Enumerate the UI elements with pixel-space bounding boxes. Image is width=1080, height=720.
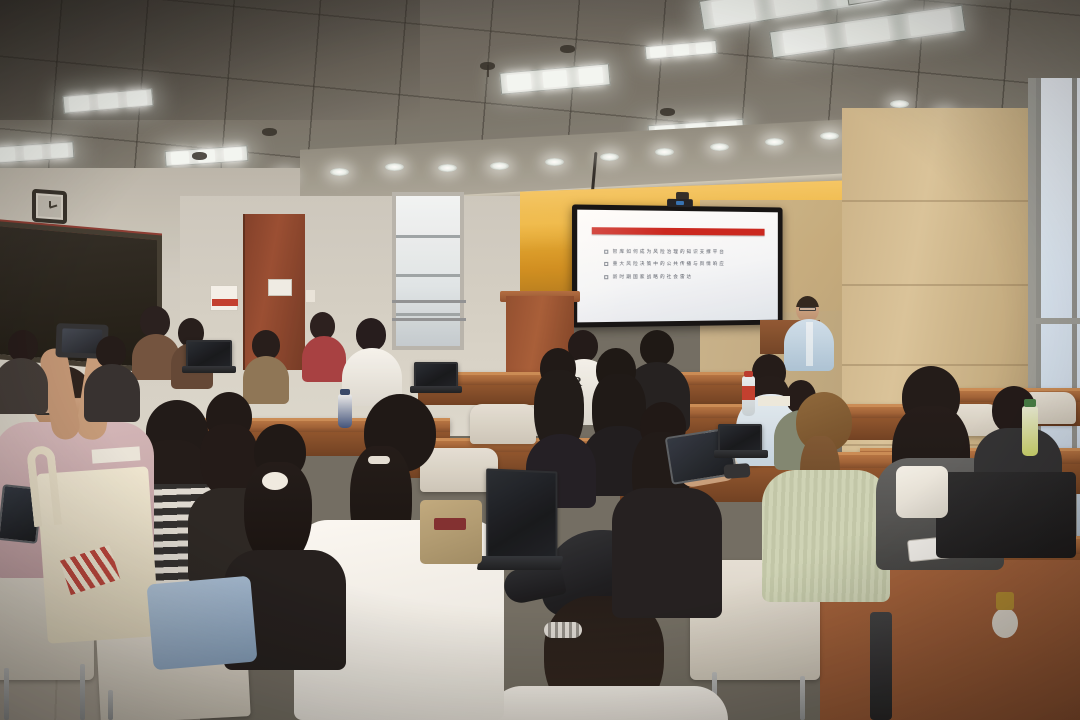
recessed-downlight bbox=[655, 148, 674, 156]
recessed-downlight bbox=[710, 143, 729, 151]
ceiling-speaker bbox=[192, 152, 207, 160]
paper-sheet bbox=[758, 396, 790, 406]
bottle-cap bbox=[340, 389, 350, 395]
window-mid bbox=[396, 196, 460, 346]
hair-scrunchie bbox=[262, 472, 288, 490]
laptop-keyboard[interactable] bbox=[182, 366, 236, 373]
chair[interactable] bbox=[470, 404, 536, 444]
recessed-downlight bbox=[820, 132, 839, 140]
bag-logo bbox=[434, 518, 466, 530]
wall-clock bbox=[32, 189, 67, 224]
laptop-screen[interactable] bbox=[414, 362, 458, 388]
window-transom bbox=[1028, 318, 1080, 324]
bottle-cap bbox=[1024, 399, 1036, 407]
laptop-keyboard[interactable] bbox=[477, 556, 563, 570]
laptop-screen[interactable] bbox=[186, 340, 232, 368]
chair-leg bbox=[108, 690, 113, 720]
laptop-keyboard[interactable] bbox=[410, 386, 462, 393]
recessed-downlight bbox=[438, 164, 457, 172]
door-notice-sign bbox=[268, 279, 292, 296]
recessed-downlight bbox=[890, 100, 909, 108]
bag-charm-clasp bbox=[996, 592, 1014, 610]
beaded-hair-clip bbox=[544, 622, 582, 638]
khaki-bag[interactable] bbox=[420, 500, 482, 564]
laptop-screen[interactable] bbox=[486, 468, 557, 563]
smartphone[interactable] bbox=[724, 463, 751, 479]
glasses-icon bbox=[799, 307, 816, 311]
recessed-downlight bbox=[545, 158, 564, 166]
black-backpack[interactable] bbox=[936, 472, 1076, 558]
wall-notice-sign bbox=[210, 285, 238, 311]
wall-switch-plate[interactable] bbox=[306, 290, 315, 302]
tea-bottle[interactable] bbox=[1022, 406, 1038, 456]
bottle-label bbox=[742, 386, 755, 400]
recessed-downlight bbox=[765, 138, 784, 146]
ceiling-speaker bbox=[660, 108, 675, 116]
slide-surface: 智 库 如 何 成 为 风 险 治 理 的 知 识 支 撑 平 台 重 大 风 … bbox=[577, 210, 778, 323]
recessed-downlight bbox=[330, 168, 349, 176]
recessed-downlight bbox=[600, 153, 619, 161]
window-railing bbox=[392, 300, 466, 303]
lecture-room-photo: 智 库 如 何 成 为 风 险 治 理 的 知 识 支 撑 平 台 重 大 风 … bbox=[0, 0, 1080, 720]
chair-leg bbox=[800, 676, 805, 720]
screen-glare bbox=[577, 210, 778, 323]
bag-charm bbox=[992, 608, 1018, 638]
water-bottle[interactable] bbox=[338, 394, 352, 428]
bottle-cap bbox=[744, 371, 753, 377]
ceiling-speaker bbox=[480, 62, 495, 70]
presentation-display: 智 库 如 何 成 为 风 险 治 理 的 知 识 支 撑 平 台 重 大 风 … bbox=[572, 204, 783, 327]
recessed-downlight bbox=[490, 162, 509, 170]
hair-tie bbox=[368, 456, 390, 464]
window-railing bbox=[392, 318, 466, 321]
chair-leg bbox=[4, 668, 9, 720]
luggage-handle bbox=[870, 612, 892, 720]
chair-leg bbox=[80, 664, 85, 720]
white-cloth-item bbox=[896, 466, 948, 518]
laptop-screen[interactable] bbox=[718, 424, 762, 452]
laptop-keyboard[interactable] bbox=[714, 450, 768, 458]
ceiling-speaker bbox=[262, 128, 277, 136]
ceiling-speaker bbox=[560, 45, 575, 53]
denim-jacket bbox=[146, 576, 257, 671]
recessed-downlight bbox=[385, 163, 404, 171]
conference-camera-icon bbox=[667, 199, 693, 207]
